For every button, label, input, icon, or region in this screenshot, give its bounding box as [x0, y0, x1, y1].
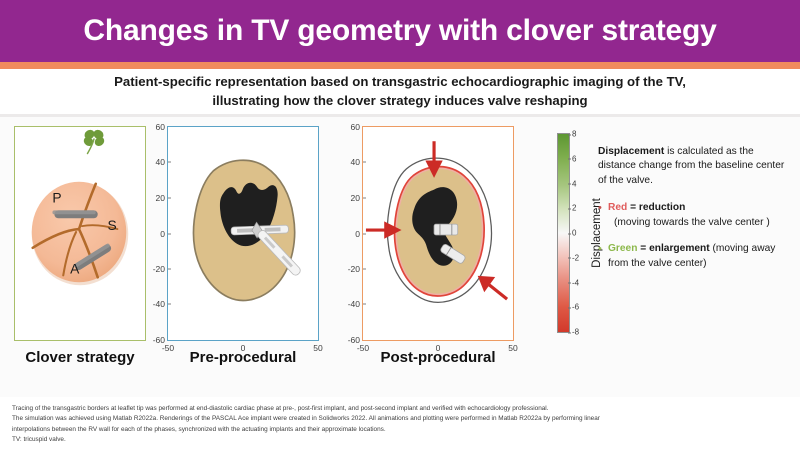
figure-area: P S A 60 40 20 0 -20 -40 -60 -50 0 50	[0, 117, 800, 397]
y-tick-label: 0	[160, 229, 165, 239]
footnote-line-2: The simulation was achieved using Matlab…	[12, 414, 792, 424]
clover-valve-diagram: P S A	[15, 127, 145, 340]
colorbar-tick: 2	[572, 204, 576, 213]
legend-green-keyword: Green	[608, 243, 637, 254]
implant-clip-upper-post	[434, 224, 458, 235]
legend-red-equals: =	[627, 202, 639, 213]
footnote-block: Tracing of the transgastric borders at l…	[12, 404, 792, 446]
colorbar-tick: -8	[572, 328, 579, 337]
legend-intro: Displacement is calculated as the distan…	[598, 145, 794, 188]
valve-label-anterior: A	[70, 261, 80, 276]
page-title: Changes in TV geometry with clover strat…	[83, 14, 716, 48]
panel-post-procedural: 60 40 20 0 -20 -40 -60 -50 0 50	[362, 126, 514, 341]
legend-red-keyword: Red	[608, 202, 627, 213]
bullet-icon: •	[598, 201, 608, 230]
slide-header-bar: Changes in TV geometry with clover strat…	[0, 0, 800, 62]
pre-procedural-valve-plot	[168, 127, 318, 340]
y-tick-label: 20	[351, 193, 360, 203]
footnote-line-1: Tracing of the transgastric borders at l…	[12, 404, 792, 414]
y-tick-label: 40	[351, 157, 360, 167]
footnote-line-3: interpolations between the RV wall for e…	[12, 425, 792, 435]
y-tick-label: 20	[156, 193, 165, 203]
colorbar-gradient: 8 6 4 2 0 -2 -4 -6 -8	[557, 133, 570, 333]
colorbar-tick: 6	[572, 154, 576, 163]
colorbar-tick: -2	[572, 253, 579, 262]
y-tick-label: -40	[153, 299, 165, 309]
colorbar-tick: 4	[572, 179, 576, 188]
legend-panel: Displacement is calculated as the distan…	[598, 145, 794, 283]
colorbar-tick: -4	[572, 278, 579, 287]
legend-green-term: enlargement	[649, 243, 710, 254]
y-tick-label: 0	[355, 229, 360, 239]
post-procedural-valve-plot	[363, 127, 513, 340]
footnote-line-4: TV: tricuspid valve.	[12, 435, 792, 445]
slide-subtitle: Patient-specific representation based on…	[40, 72, 760, 110]
legend-item-green: • Green = enlargement (moving away from …	[598, 242, 794, 271]
panel-pre-procedural: 60 40 20 0 -20 -40 -60 -50 0 50	[167, 126, 319, 341]
legend-red-detail: (moving towards the valve center )	[608, 216, 794, 230]
y-tick-label: -20	[348, 264, 360, 274]
colorbar-tick: 0	[572, 229, 576, 238]
panel-clover-strategy: P S A	[14, 126, 146, 341]
caption-clover-strategy: Clover strategy	[14, 349, 146, 366]
valve-label-posterior: P	[52, 190, 61, 205]
valve-label-septal: S	[108, 218, 117, 233]
bullet-icon: •	[598, 242, 608, 271]
y-tick-label: 40	[156, 157, 165, 167]
y-tick-label: 60	[156, 122, 165, 132]
y-tick-label: -20	[153, 264, 165, 274]
caption-pre-procedural: Pre-procedural	[167, 349, 319, 366]
subtitle-line-1: Patient-specific representation based on…	[40, 72, 760, 91]
four-leaf-clover-icon	[77, 126, 111, 156]
caption-post-procedural: Post-procedural	[362, 349, 514, 366]
legend-intro-keyword: Displacement	[598, 146, 664, 157]
colorbar-tick: -6	[572, 303, 579, 312]
displacement-colorbar: 8 6 4 2 0 -2 -4 -6 -8 Displacement	[557, 133, 570, 333]
arrow-bottom-right	[478, 276, 507, 299]
legend-red-term: reduction	[639, 202, 685, 213]
header-accent-stripe	[0, 62, 800, 69]
legend-item-red: • Red = reduction (moving towards the va…	[598, 201, 794, 230]
subtitle-line-2: illustrating how the clover strategy ind…	[40, 91, 760, 110]
colorbar-tick: 8	[572, 130, 576, 139]
y-tick-label: 60	[351, 122, 360, 132]
legend-green-equals: =	[637, 243, 649, 254]
y-tick-label: -40	[348, 299, 360, 309]
